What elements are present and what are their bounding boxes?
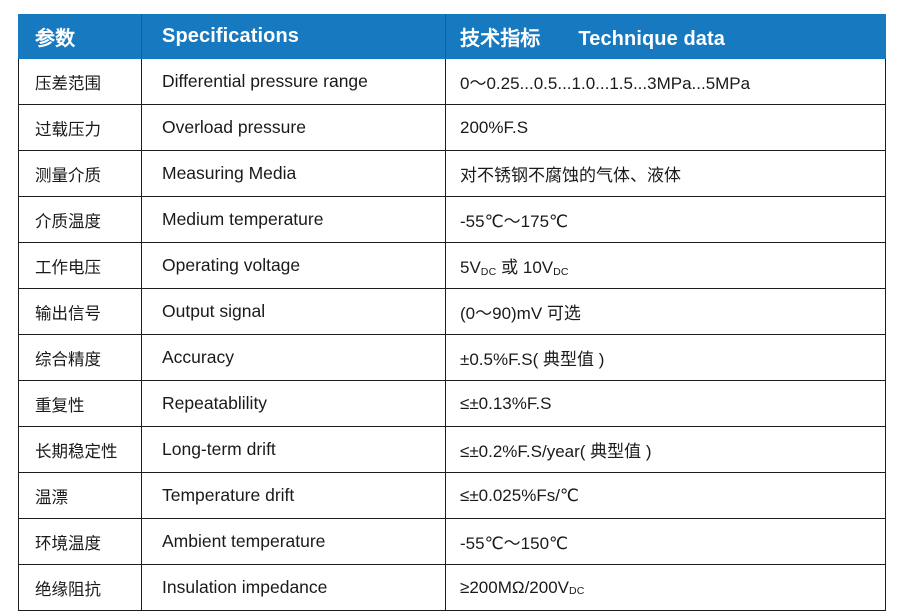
column-header-parameter: 参数: [19, 15, 142, 59]
cell-parameter: 工作电压: [19, 243, 142, 289]
subscript-dc: DC: [569, 585, 585, 597]
table-row: 绝缘阻抗Insulation impedance≥200MΩ/200VDC: [19, 565, 886, 611]
cell-parameter: 长期稳定性: [19, 427, 142, 473]
cell-parameter: 压差范围: [19, 59, 142, 105]
table-body: 压差范围Differential pressure range0～0.25...…: [19, 59, 886, 611]
table-row: 综合精度Accuracy±0.5%F.S( 典型值 ): [19, 335, 886, 381]
cell-technique-data: 5VDC 或 10VDC: [446, 243, 886, 289]
table-row: 介质温度Medium temperature-55℃～175℃: [19, 197, 886, 243]
cell-technique-data: ±0.5%F.S( 典型值 ): [446, 335, 886, 381]
header-row: 参数 Specifications 技术指标Technique data: [19, 15, 886, 59]
column-header-specifications: Specifications: [142, 15, 446, 59]
table-row: 温漂Temperature drift≤±0.025%Fs/℃: [19, 473, 886, 519]
cell-parameter: 测量介质: [19, 151, 142, 197]
table-row: 测量介质Measuring Media对不锈钢不腐蚀的气体、液体: [19, 151, 886, 197]
cell-specification: Temperature drift: [142, 473, 446, 519]
subscript-dc: DC: [481, 266, 497, 278]
cell-specification: Operating voltage: [142, 243, 446, 289]
cell-technique-data: 0～0.25...0.5...1.0...1.5...3MPa...5MPa: [446, 59, 886, 105]
cell-parameter: 绝缘阻抗: [19, 565, 142, 611]
table-row: 过载压力Overload pressure200%F.S: [19, 105, 886, 151]
cell-technique-data: 对不锈钢不腐蚀的气体、液体: [446, 151, 886, 197]
table-row: 工作电压Operating voltage5VDC 或 10VDC: [19, 243, 886, 289]
cell-specification: Differential pressure range: [142, 59, 446, 105]
cell-specification: Output signal: [142, 289, 446, 335]
cell-specification: Accuracy: [142, 335, 446, 381]
cell-technique-data: ≥200MΩ/200VDC: [446, 565, 886, 611]
table-row: 长期稳定性Long-term drift≤±0.2%F.S/year( 典型值 …: [19, 427, 886, 473]
cell-technique-data: (0～90)mV 可选: [446, 289, 886, 335]
subscript-dc: DC: [553, 266, 569, 278]
cell-specification: Ambient temperature: [142, 519, 446, 565]
cell-parameter: 输出信号: [19, 289, 142, 335]
cell-specification: Overload pressure: [142, 105, 446, 151]
column-header-technique-data-cn: 技术指标: [460, 28, 540, 50]
cell-technique-data: -55℃～175℃: [446, 197, 886, 243]
cell-technique-data: -55℃～150℃: [446, 519, 886, 565]
column-header-technique-data: 技术指标Technique data: [446, 15, 886, 59]
column-header-technique-data-en: Technique data: [578, 28, 725, 50]
table-row: 输出信号Output signal(0～90)mV 可选: [19, 289, 886, 335]
specifications-table-container: 参数 Specifications 技术指标Technique data 压差范…: [18, 14, 885, 611]
cell-specification: Long-term drift: [142, 427, 446, 473]
cell-parameter: 环境温度: [19, 519, 142, 565]
cell-specification: Measuring Media: [142, 151, 446, 197]
cell-parameter: 过载压力: [19, 105, 142, 151]
cell-specification: Repeatablility: [142, 381, 446, 427]
table-header: 参数 Specifications 技术指标Technique data: [19, 15, 886, 59]
table-row: 压差范围Differential pressure range0～0.25...…: [19, 59, 886, 105]
cell-parameter: 重复性: [19, 381, 142, 427]
cell-technique-data: ≤±0.13%F.S: [446, 381, 886, 427]
table-row: 环境温度Ambient temperature-55℃～150℃: [19, 519, 886, 565]
cell-technique-data: 200%F.S: [446, 105, 886, 151]
cell-parameter: 综合精度: [19, 335, 142, 381]
cell-technique-data: ≤±0.2%F.S/year( 典型值 ): [446, 427, 886, 473]
cell-specification: Insulation impedance: [142, 565, 446, 611]
cell-parameter: 介质温度: [19, 197, 142, 243]
table-row: 重复性Repeatablility≤±0.13%F.S: [19, 381, 886, 427]
cell-parameter: 温漂: [19, 473, 142, 519]
cell-specification: Medium temperature: [142, 197, 446, 243]
cell-technique-data: ≤±0.025%Fs/℃: [446, 473, 886, 519]
specifications-table: 参数 Specifications 技术指标Technique data 压差范…: [18, 14, 886, 611]
